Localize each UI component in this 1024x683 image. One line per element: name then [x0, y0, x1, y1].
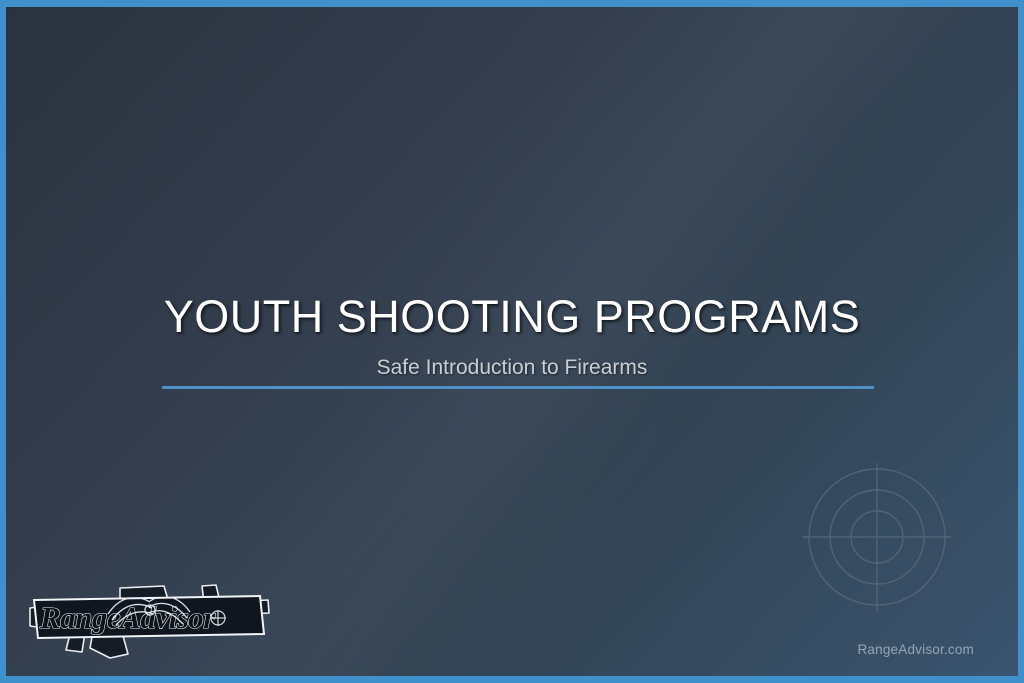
- footer-url: RangeAdvisor.com: [857, 642, 974, 657]
- title-block: YOUTH SHOOTING PROGRAMS Safe Introductio…: [6, 292, 1018, 380]
- page-title: YOUTH SHOOTING PROGRAMS: [6, 292, 1018, 342]
- presentation-slide: YOUTH SHOOTING PROGRAMS Safe Introductio…: [0, 0, 1024, 683]
- brand-logo: RangeAdvisor: [24, 568, 276, 668]
- page-subtitle: Safe Introduction to Firearms: [6, 356, 1018, 380]
- accent-divider: [162, 386, 874, 389]
- logo-wordmark-text: RangeAdvisor: [39, 600, 216, 635]
